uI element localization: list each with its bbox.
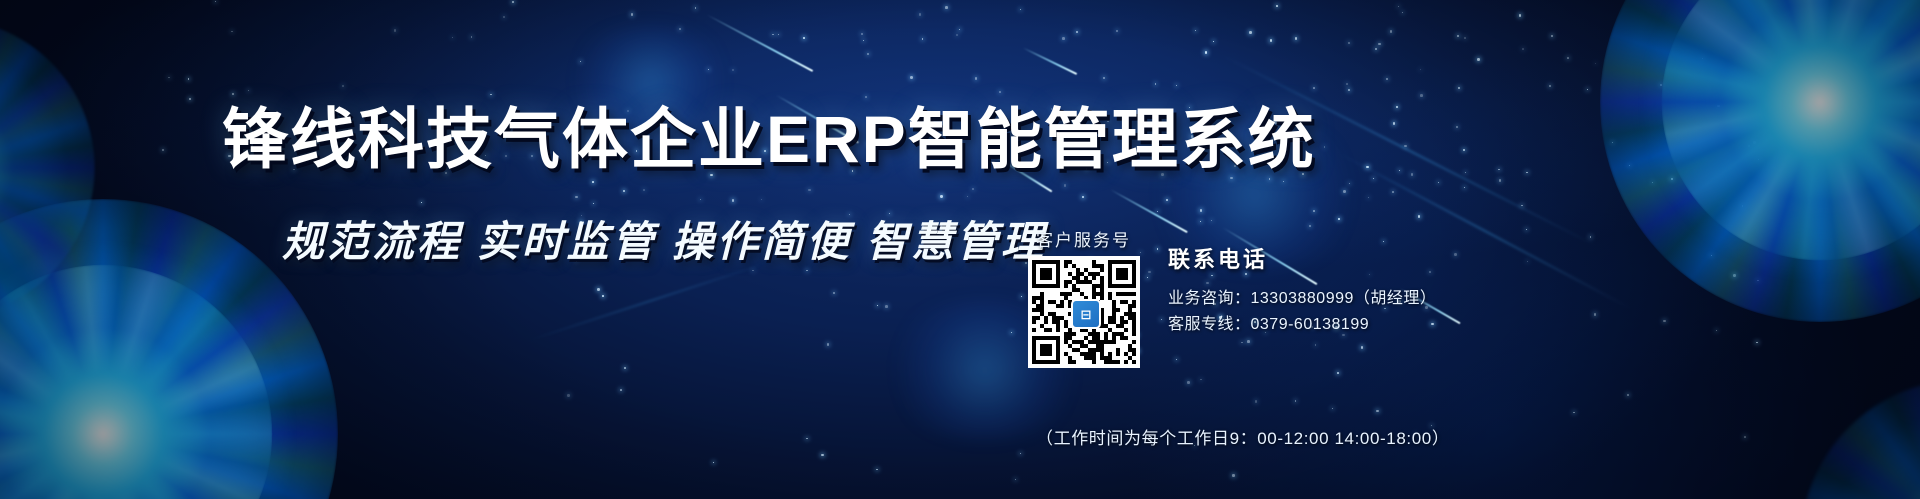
banner-title: 锋线科技气体企业ERP智能管理系统: [222, 86, 1316, 182]
qr-center-logo: ⊟: [1071, 299, 1101, 329]
qr-label: 客户服务号: [1036, 226, 1131, 251]
phone-section: 联系电话 业务咨询：13303880999（胡经理） 客服专线：0379-601…: [1168, 242, 1436, 339]
contact-block: 客户服务号 ⊟ 联系电话 业务咨询：13303880999（胡经理） 客服专线：…: [1028, 228, 1828, 488]
qr-code-icon[interactable]: ⊟: [1028, 256, 1140, 368]
qr-section: 客户服务号 ⊟: [1028, 256, 1146, 368]
banner-subtitle: 规范流程 实时监管 操作简便 智慧管理: [282, 208, 1046, 269]
phone-line-sales: 业务咨询：13303880999（胡经理）: [1168, 286, 1436, 312]
phone-title: 联系电话: [1168, 242, 1436, 274]
erp-promo-banner: 锋线科技气体企业ERP智能管理系统 规范流程 实时监管 操作简便 智慧管理 客户…: [0, 0, 1920, 499]
phone-line-support: 客服专线：0379-60138199: [1168, 312, 1436, 338]
working-hours: （工作时间为每个工作日9：00-12:00 14:00-18:00）: [1036, 424, 1449, 449]
